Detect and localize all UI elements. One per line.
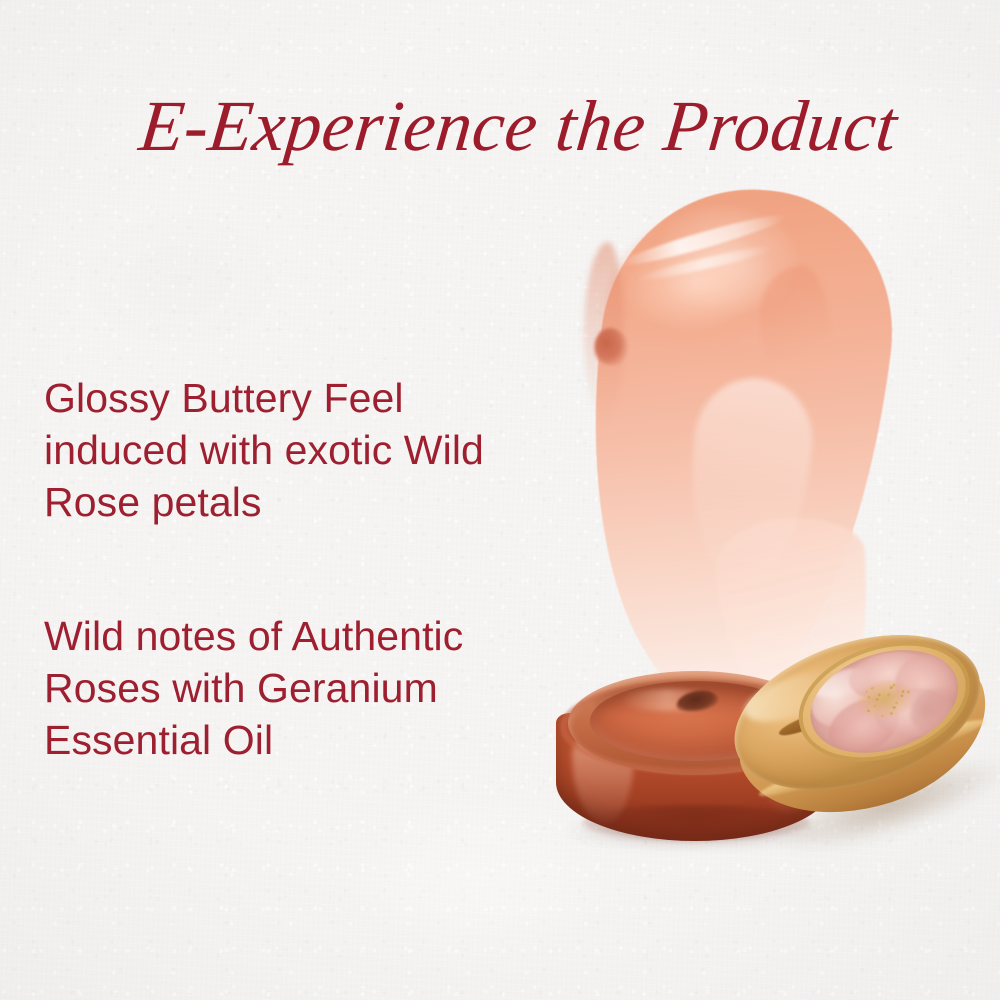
- feature-line: induced with exotic Wild: [44, 424, 544, 476]
- page-title: E-Experience the Product: [135, 82, 874, 170]
- feature-line: Essential Oil: [44, 714, 524, 766]
- feature-text-block-one: Glossy Buttery Feel induced with exotic …: [44, 372, 544, 528]
- feature-line: Wild notes of Authentic: [44, 610, 524, 662]
- feature-line: Rose petals: [44, 476, 544, 528]
- product-photo-group: [520, 180, 1000, 880]
- feature-line: Roses with Geranium: [44, 662, 524, 714]
- product-feature-card: E-Experience the Product Glossy Buttery …: [0, 0, 1000, 1000]
- feature-line: Glossy Buttery Feel: [44, 372, 544, 424]
- feature-text-block-two: Wild notes of Authentic Roses with Geran…: [44, 610, 524, 766]
